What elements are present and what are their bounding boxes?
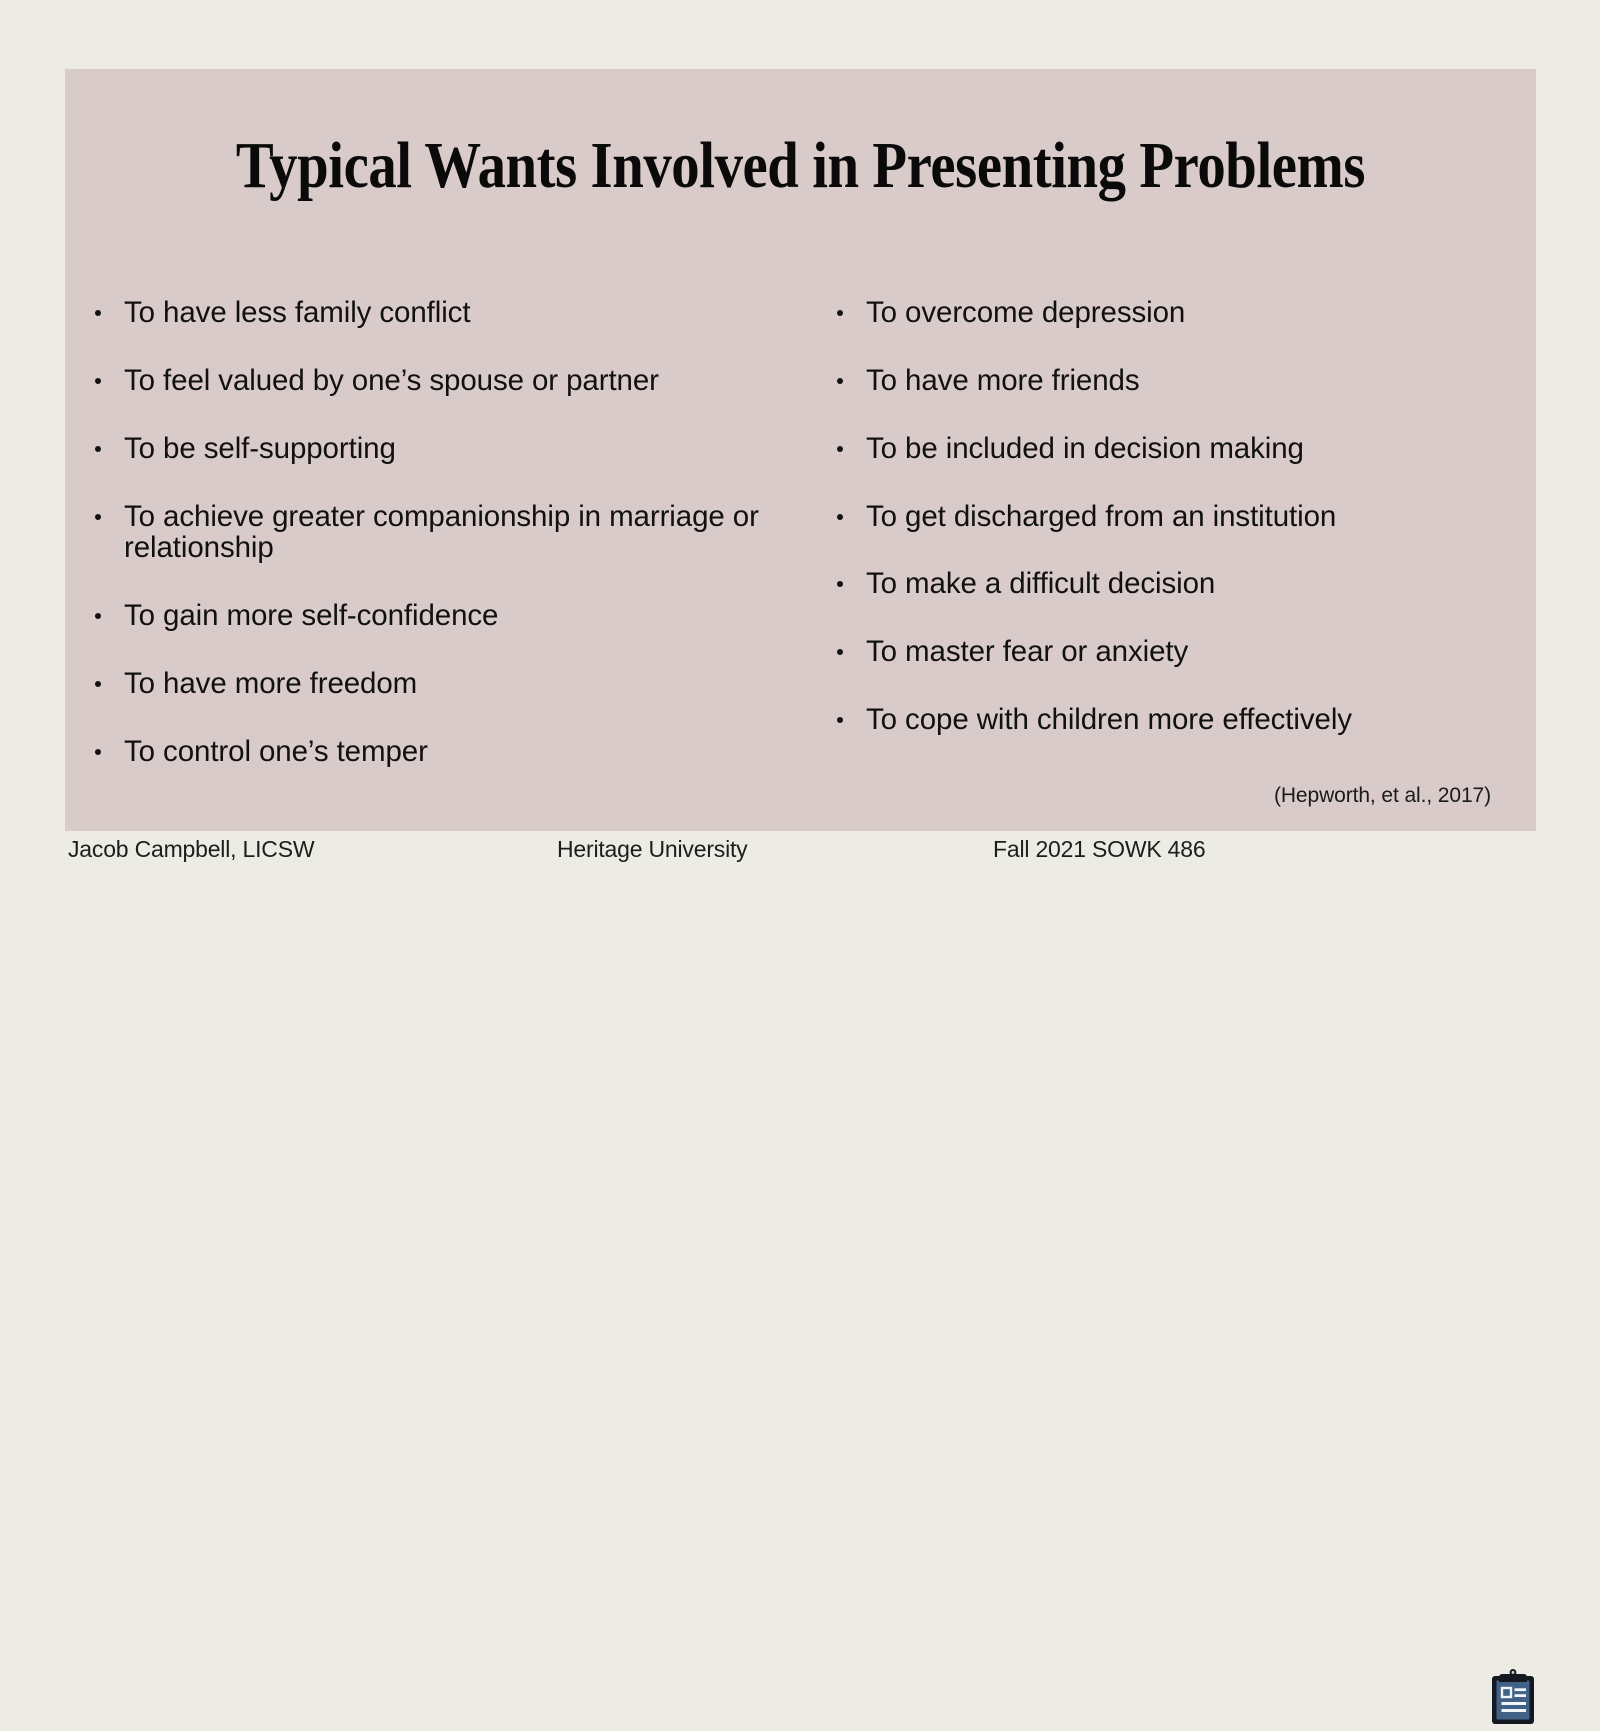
footer-course: Fall 2021 SOWK 486 (993, 836, 1205, 863)
bullet-dot-icon (95, 310, 101, 316)
list-item: To overcome depression (833, 297, 1536, 329)
list-item-label: To control one’s temper (124, 735, 428, 768)
slide: Typical Wants Involved in Presenting Pro… (0, 0, 1600, 900)
bullet-dot-icon (95, 446, 101, 452)
left-bullet-list: To have less family conflict To feel val… (91, 297, 805, 768)
list-item-label: To master fear or anxiety (866, 635, 1188, 668)
list-item-label: To feel valued by one’s spouse or partne… (124, 364, 659, 397)
bullet-dot-icon (837, 378, 843, 384)
list-item: To feel valued by one’s spouse or partne… (91, 365, 805, 397)
bullet-dot-icon (95, 681, 101, 687)
list-item-label: To get discharged from an institution (866, 500, 1336, 533)
list-item: To cope with children more effectively (833, 704, 1536, 736)
slide-footer: Jacob Campbell, LICSW Heritage Universit… (0, 836, 1600, 900)
bullet-dot-icon (95, 613, 101, 619)
list-item-label: To have more friends (866, 364, 1139, 397)
left-column: To have less family conflict To feel val… (65, 297, 805, 768)
list-item: To be included in decision making (833, 433, 1536, 465)
footer-author: Jacob Campbell, LICSW (68, 836, 314, 863)
bullet-columns: To have less family conflict To feel val… (65, 297, 1536, 768)
list-item-label: To have less family conflict (124, 296, 470, 329)
bullet-dot-icon (95, 378, 101, 384)
list-item-label: To achieve greater companionship in marr… (124, 500, 759, 565)
list-item: To have more friends (833, 365, 1536, 397)
list-item: To make a difficult decision (833, 568, 1536, 600)
list-item-label: To cope with children more effectively (866, 703, 1352, 736)
bullet-dot-icon (837, 581, 843, 587)
clipboard-icon (1489, 1669, 1537, 1726)
list-item-label: To be included in decision making (866, 432, 1304, 465)
bullet-dot-icon (837, 446, 843, 452)
list-item: To control one’s temper (91, 736, 805, 768)
right-column: To overcome depression To have more frie… (805, 297, 1536, 736)
bullet-dot-icon (837, 514, 843, 520)
list-item: To achieve greater companionship in marr… (91, 501, 805, 565)
list-item: To master fear or anxiety (833, 636, 1536, 668)
list-item: To have less family conflict (91, 297, 805, 329)
bullet-dot-icon (837, 717, 843, 723)
list-item-label: To make a difficult decision (866, 567, 1215, 600)
list-item: To gain more self-confidence (91, 600, 805, 632)
list-item-label: To overcome depression (866, 296, 1185, 329)
right-bullet-list: To overcome depression To have more frie… (833, 297, 1536, 736)
page-title: Typical Wants Involved in Presenting Pro… (168, 131, 1433, 200)
bullet-dot-icon (95, 514, 101, 520)
list-item: To have more freedom (91, 668, 805, 700)
citation: (Hepworth, et al., 2017) (1274, 784, 1491, 808)
footer-organization: Heritage University (557, 836, 748, 863)
list-item-label: To have more freedom (124, 667, 417, 700)
bullet-dot-icon (837, 649, 843, 655)
list-item-label: To gain more self-confidence (124, 599, 498, 632)
list-item: To be self-supporting (91, 433, 805, 465)
list-item: To get discharged from an institution (833, 501, 1536, 533)
content-card: Typical Wants Involved in Presenting Pro… (65, 69, 1536, 831)
bullet-dot-icon (95, 749, 101, 755)
bullet-dot-icon (837, 310, 843, 316)
list-item-label: To be self-supporting (124, 432, 396, 465)
